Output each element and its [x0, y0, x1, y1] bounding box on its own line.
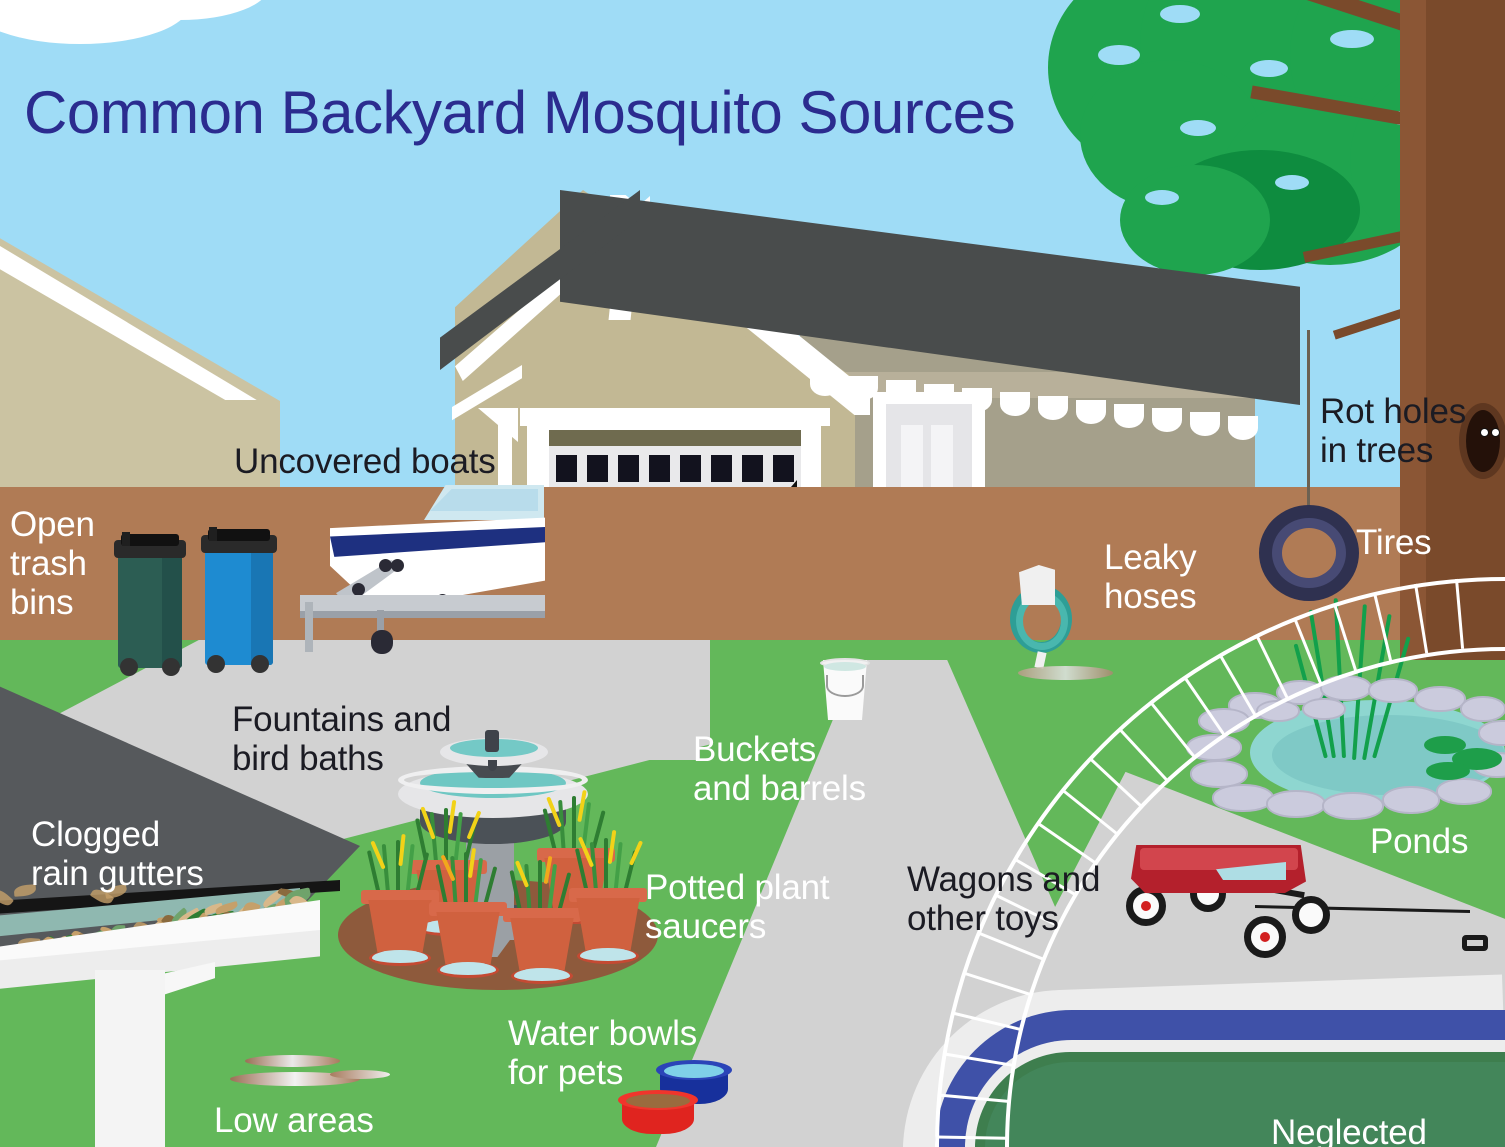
trailer-roller	[391, 559, 404, 572]
pot-saucer	[511, 968, 573, 984]
bucket-handle	[826, 675, 864, 697]
pot-saucer	[577, 948, 639, 964]
bin-wheel	[207, 655, 225, 673]
bin-body-shade	[162, 548, 182, 668]
swing-rope	[1307, 330, 1310, 515]
eave-scallop	[1038, 396, 1068, 420]
bin-body-shade	[251, 543, 273, 665]
label-uncovered-boats: Uncovered boats	[234, 442, 496, 481]
pond-rock	[1322, 792, 1384, 820]
leaf-gap	[1098, 45, 1140, 65]
pond-rock	[1368, 678, 1418, 703]
label-fountains-birdbaths: Fountains and bird baths	[232, 700, 451, 778]
plant-foliage	[508, 856, 578, 916]
pond-rock	[1414, 686, 1466, 712]
leaf-gap	[1275, 175, 1309, 190]
label-neglected-pools: Neglected pools	[1271, 1113, 1505, 1147]
trailer-frame	[300, 611, 545, 618]
low-area-puddle	[330, 1070, 390, 1079]
bin-lid-hinge	[122, 532, 130, 546]
pond-rock	[1460, 696, 1505, 722]
garage-door-window	[587, 455, 608, 482]
leaf-gap	[1180, 120, 1216, 136]
page-title: Common Backyard Mosquito Sources	[24, 78, 1015, 147]
pond-rock	[1186, 734, 1242, 761]
garage-door-window	[773, 455, 794, 482]
eave-scallop	[1190, 412, 1220, 436]
pond-rock	[1302, 698, 1346, 720]
pet-bowl-food	[626, 1094, 690, 1108]
label-water-bowls-pets: Water bowls for pets	[508, 1014, 697, 1092]
pond-rock	[1256, 700, 1300, 722]
label-wagons-other-toys: Wagons and other toys	[907, 860, 1100, 938]
label-ponds: Ponds	[1370, 822, 1468, 861]
pond-rock	[1436, 778, 1492, 805]
leaf-gap	[1250, 60, 1288, 77]
hose-hanger	[1019, 565, 1055, 605]
garage-door-window	[618, 455, 639, 482]
wagon-wheel	[1292, 896, 1330, 934]
eave-scallop	[1114, 404, 1144, 428]
wagon-wheel-hub	[1141, 901, 1151, 911]
label-rot-holes-trees: Rot holes in trees	[1320, 392, 1466, 470]
label-open-trash-bins: Open trash bins	[10, 505, 95, 623]
tree-canopy	[1120, 165, 1270, 275]
trailer-jack-wheel	[371, 630, 393, 654]
eave-scallop	[1000, 392, 1030, 416]
pond-rock	[1382, 786, 1440, 814]
pond-rock	[1198, 708, 1250, 734]
rot-hole-icon	[1466, 410, 1500, 472]
tire-swing-inner	[1272, 518, 1346, 588]
garage-door-header	[520, 408, 830, 426]
lily-pad	[1426, 762, 1470, 780]
leaf-gap	[1330, 30, 1374, 48]
garage-door-top-band	[549, 430, 801, 446]
downspout	[95, 970, 165, 1147]
label-potted-plant-saucers: Potted plant saucers	[645, 868, 829, 946]
pond-rock	[1266, 790, 1326, 818]
bin-wheel	[162, 658, 180, 676]
low-area-puddle	[245, 1055, 340, 1067]
bucket-water	[824, 662, 866, 671]
pond-rock	[1212, 784, 1274, 812]
fountain-water-drop	[488, 760, 497, 771]
label-low-areas: Low areas	[214, 1101, 374, 1140]
bin-lid-hinge	[209, 527, 217, 541]
label-tires: Tires	[1356, 523, 1431, 562]
rot-hole-eyes	[1480, 428, 1502, 438]
plant-foliage	[574, 836, 644, 896]
garage-door-window	[556, 455, 577, 482]
eave-scallop	[1076, 400, 1106, 424]
pond-rock	[1320, 675, 1372, 701]
label-buckets-barrels: Buckets and barrels	[693, 730, 866, 808]
wagon-wheel-hub	[1260, 932, 1270, 942]
plant-foliage	[434, 850, 504, 910]
pot-saucer	[369, 950, 431, 966]
leaf-gap	[1145, 190, 1179, 205]
eye-icon	[1491, 428, 1500, 437]
plant-foliage	[366, 838, 436, 898]
hose-leak-puddle	[1018, 666, 1113, 680]
garage-door-window	[649, 455, 670, 482]
eave-scallop	[1228, 416, 1258, 440]
eave-scallop	[1152, 408, 1182, 432]
wagon-handle-grip	[1462, 935, 1488, 951]
bin-wheel	[120, 658, 138, 676]
fountain-nozzle	[485, 730, 499, 752]
label-clogged-rain-gutters: Clogged rain gutters	[31, 815, 204, 893]
bin-opening	[208, 529, 270, 541]
eave-scallop	[810, 372, 840, 396]
trailer-tongue	[305, 602, 313, 652]
garage-door-window	[711, 455, 732, 482]
garage-door-window	[742, 455, 763, 482]
bin-wheel	[251, 655, 269, 673]
pot-saucer	[437, 962, 499, 978]
garage-door-window	[680, 455, 701, 482]
infographic-canvas: Common Backyard Mosquito Sources Uncover…	[0, 0, 1505, 1147]
leaf-gap	[1160, 5, 1200, 23]
label-leaky-hoses: Leaky hoses	[1104, 538, 1196, 616]
eye-icon	[1480, 428, 1489, 437]
